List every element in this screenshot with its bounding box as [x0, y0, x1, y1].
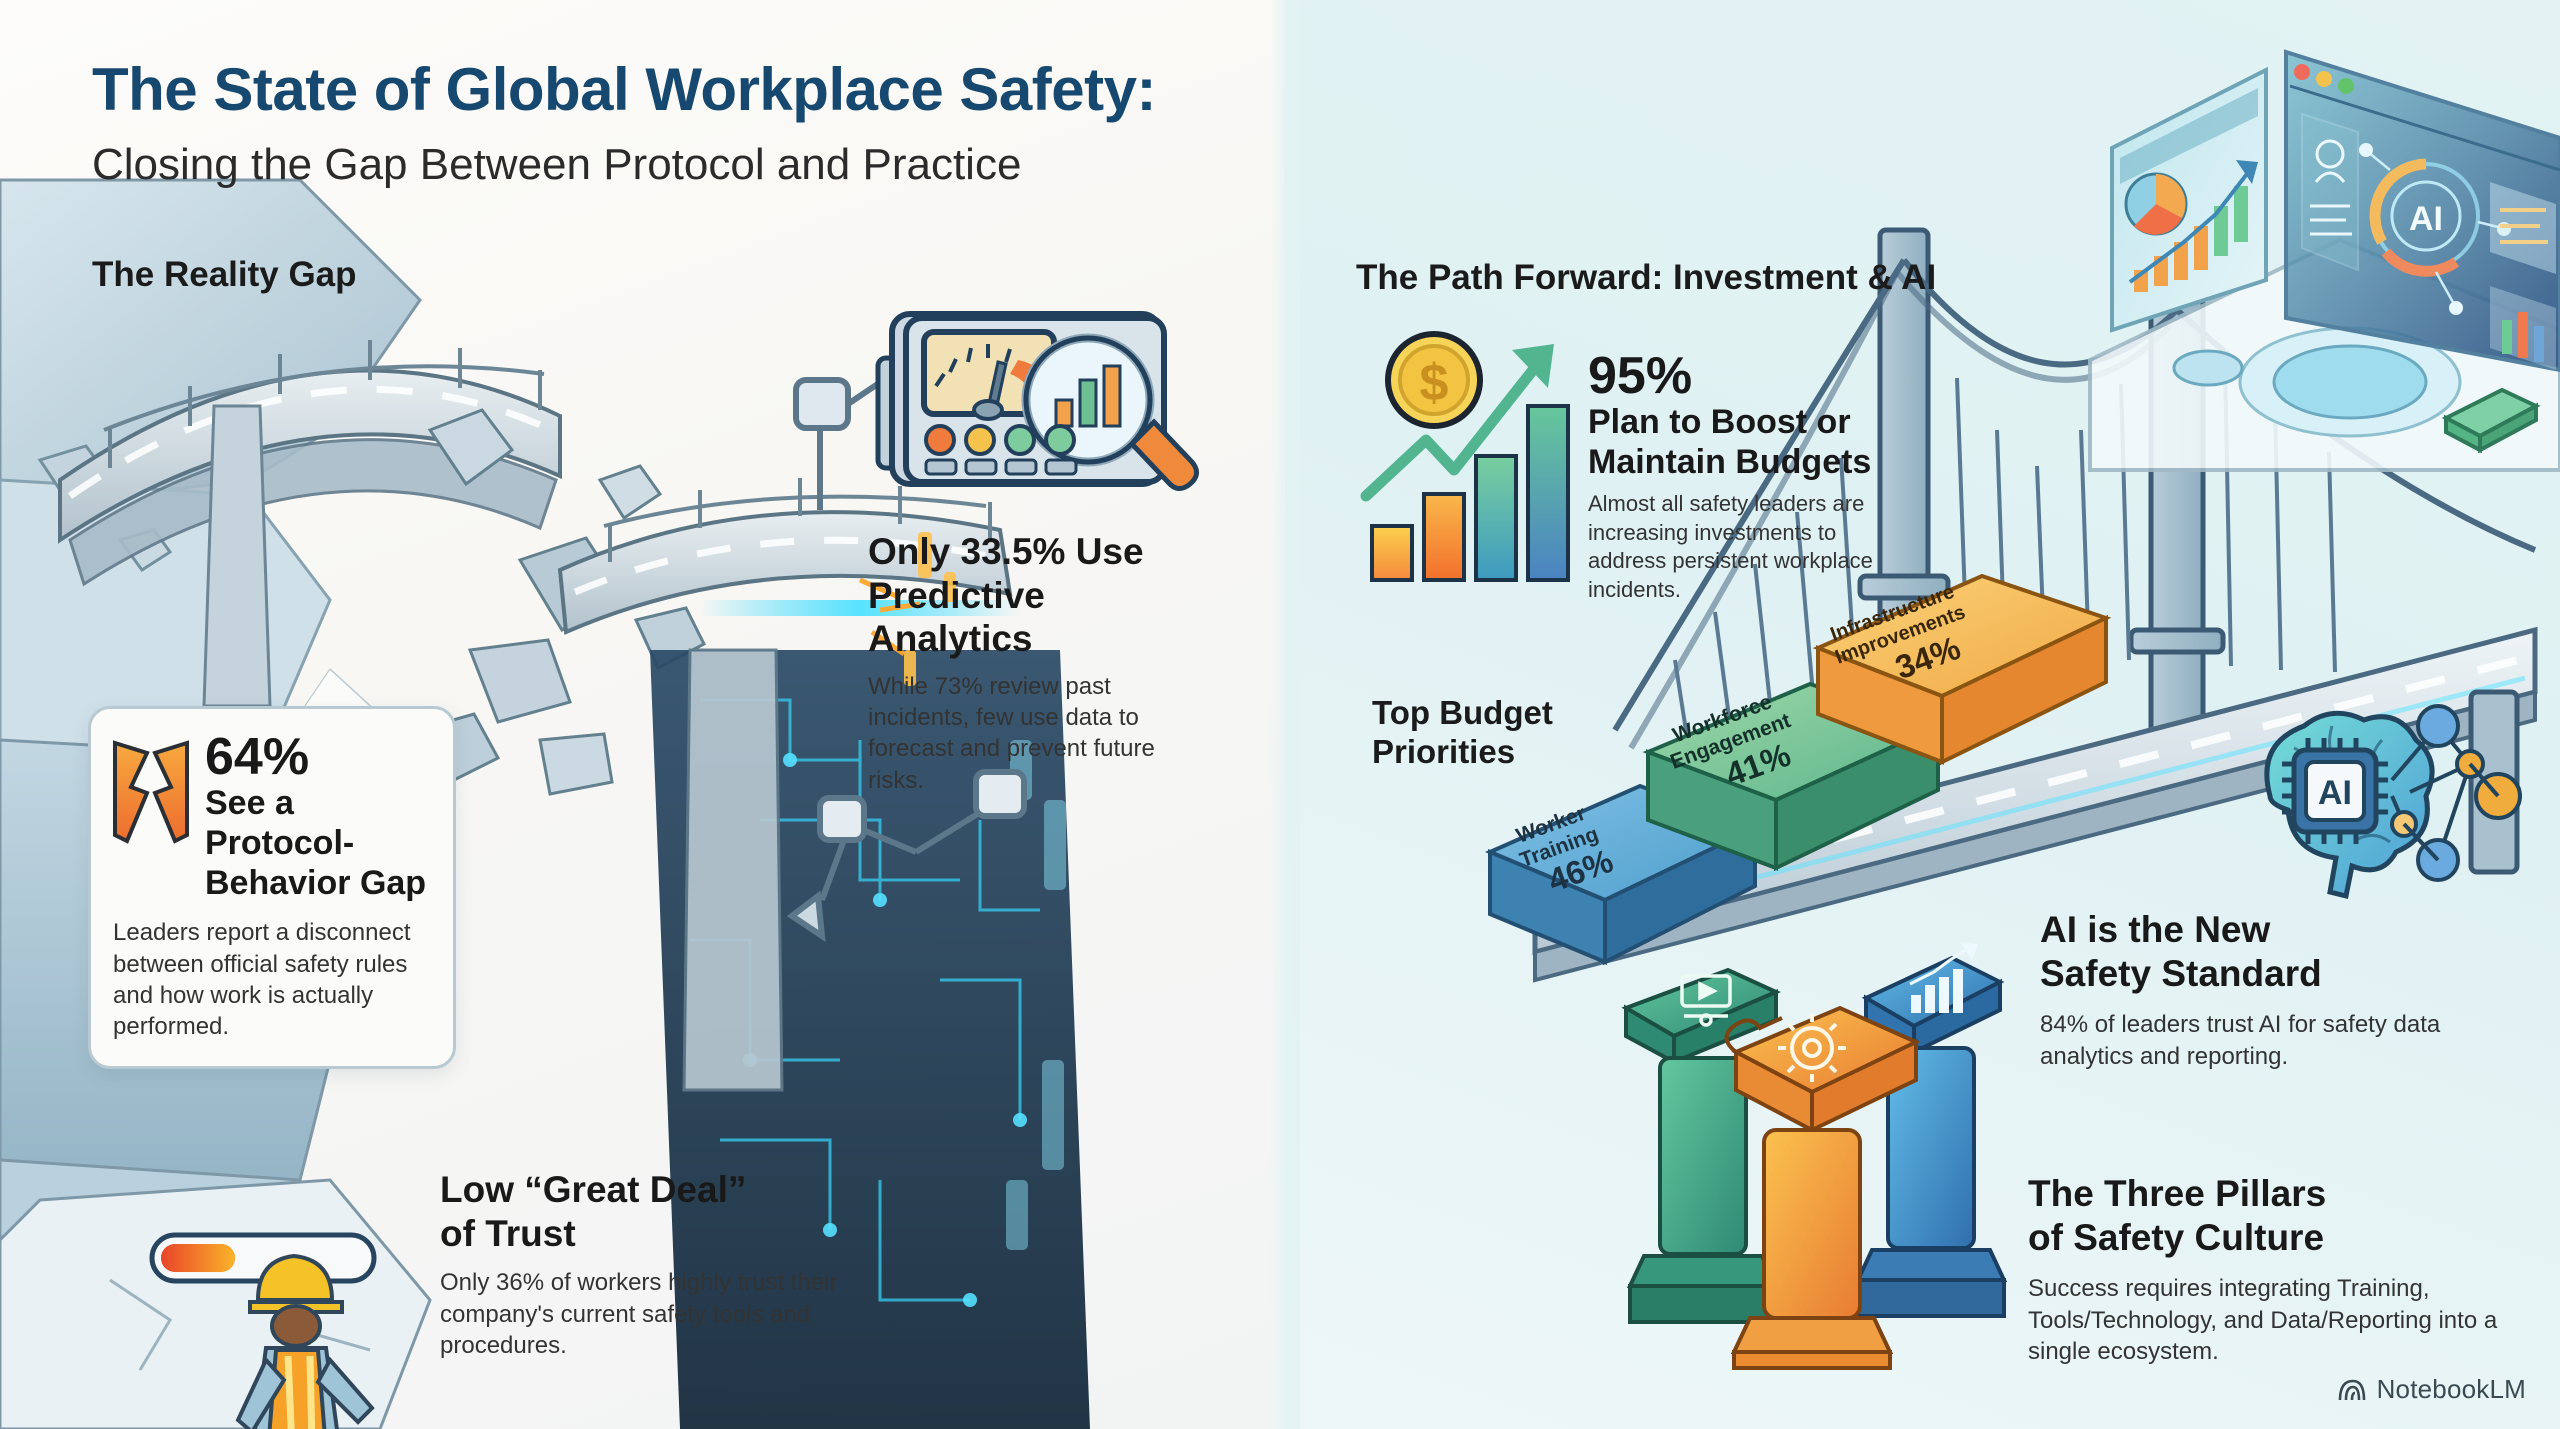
three-pillars-headline-2: of Safety Culture	[2028, 1216, 2498, 1260]
budget-headline-1: Plan to Boost or	[1588, 402, 1878, 442]
three-pillars-icon	[1600, 940, 2020, 1370]
top-budget-priorities-line2: Priorities	[1372, 733, 1553, 772]
trust-body: Only 36% of workers highly trust their c…	[440, 1267, 840, 1361]
protocol-gap-headline-1: See a Protocol-	[205, 783, 433, 863]
notebooklm-watermark: NotebookLM	[2337, 1374, 2526, 1405]
three-pillars-headline-1: The Three Pillars	[2028, 1172, 2498, 1216]
ai-standard-block: AI is the New Safety Standard 84% of lea…	[2040, 908, 2470, 1072]
predictive-analytics-block: Only 33.5% Use Predictive Analytics Whil…	[868, 530, 1198, 796]
top-budget-priorities-line1: Top Budget	[1372, 694, 1553, 733]
notebooklm-label: NotebookLM	[2377, 1374, 2526, 1405]
page-subtitle: Closing the Gap Between Protocol and Pra…	[92, 140, 1021, 190]
ai-dashboard-illustration: AI	[2090, 30, 2560, 470]
three-pillars-block: The Three Pillars of Safety Culture Succ…	[2028, 1172, 2498, 1367]
ai-brain-network-icon: AI	[2252, 700, 2532, 900]
section-heading-reality-gap: The Reality Gap	[92, 255, 357, 295]
page-title: The State of Global Workplace Safety:	[92, 55, 1156, 124]
budget-block: 95% Plan to Boost or Maintain Budgets Al…	[1588, 350, 1878, 605]
trust-headline-1: Low “Great Deal”	[440, 1168, 840, 1212]
gauge-magnifier-icon	[870, 300, 1210, 515]
infographic-canvas: Worker Training 46% Workforce Engagement…	[0, 0, 2560, 1429]
protocol-gap-callout: 64% See a Protocol- Behavior Gap Leaders…	[88, 706, 456, 1069]
notebooklm-spiral-icon	[2337, 1377, 2367, 1403]
svg-text:AI: AI	[2409, 200, 2443, 238]
budget-stat: 95%	[1588, 350, 1878, 402]
section-heading-path-forward: The Path Forward: Investment & AI	[1356, 258, 1936, 298]
ai-standard-body: 84% of leaders trust AI for safety data …	[2040, 1009, 2470, 1071]
three-pillars-body: Success requires integrating Training, T…	[2028, 1273, 2498, 1367]
pillar-data	[1858, 942, 2004, 1316]
svg-text:$: $	[1420, 354, 1449, 412]
top-budget-priorities-label: Top Budget Priorities	[1372, 694, 1553, 772]
predictive-analytics-headline-2: Predictive Analytics	[868, 574, 1198, 661]
trust-headline-2: of Trust	[440, 1212, 840, 1256]
broken-gap-icon	[113, 737, 189, 847]
trust-block: Low “Great Deal” of Trust Only 36% of wo…	[440, 1168, 840, 1361]
protocol-gap-headline-2: Behavior Gap	[205, 863, 433, 903]
svg-text:AI: AI	[2318, 774, 2352, 812]
budget-headline-2: Maintain Budgets	[1588, 442, 1878, 482]
predictive-analytics-headline-1: Only 33.5% Use	[868, 530, 1198, 574]
ai-standard-headline-1: AI is the New	[2040, 908, 2470, 952]
predictive-analytics-body: While 73% review past incidents, few use…	[868, 671, 1198, 796]
budget-priority-blocks: Worker Training 46% Workforce Engagement…	[1480, 600, 2120, 970]
protocol-gap-body: Leaders report a disconnect between offi…	[113, 917, 433, 1042]
protocol-gap-stat: 64%	[205, 731, 433, 783]
ai-standard-headline-2: Safety Standard	[2040, 952, 2470, 996]
budget-body: Almost all safety leaders are increasing…	[1588, 490, 1878, 604]
coin-growth-chart-icon: $	[1362, 318, 1612, 588]
